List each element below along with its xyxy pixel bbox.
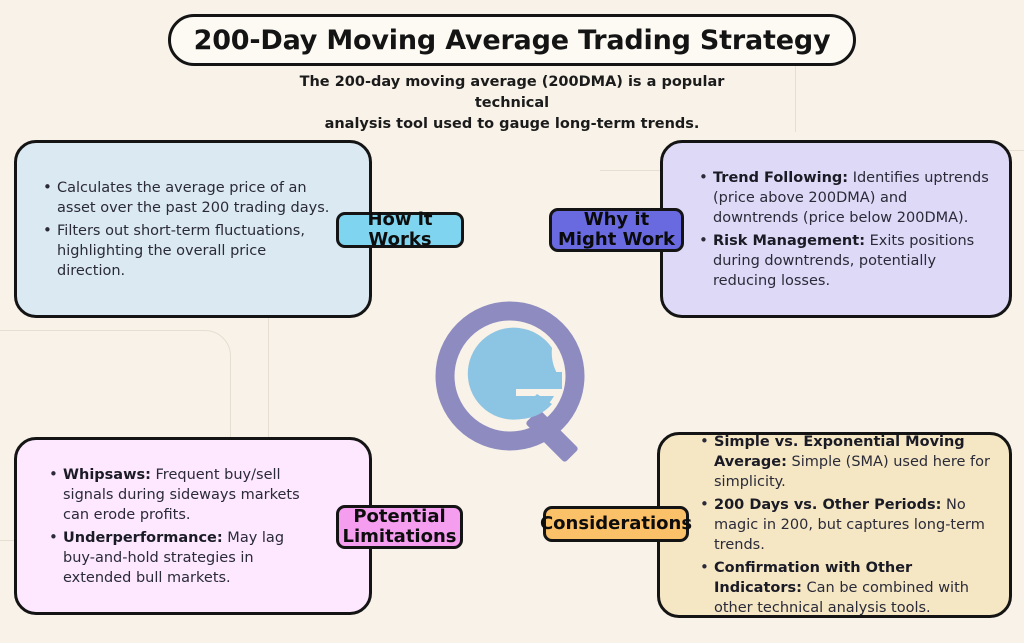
list-item-bold: Trend Following: (713, 170, 848, 186)
page-title-text: 200-Day Moving Average Trading Strategy (194, 25, 831, 56)
list-item: Risk Management: Exits positions during … (699, 231, 993, 291)
card-potential-limitations: Whipsaws: Frequent buy/sell signals duri… (14, 437, 372, 615)
subtitle-line-1: The 200-day moving average (200DMA) is a… (300, 74, 725, 111)
considerations-list: Simple vs. Exponential Moving Average: S… (660, 432, 1009, 618)
card-how-it-works: Calculates the average price of an asset… (14, 140, 372, 318)
potential-limitations-list: Whipsaws: Frequent buy/sell signals duri… (17, 465, 369, 588)
page-title: 200-Day Moving Average Trading Strategy (168, 14, 856, 66)
list-item: Whipsaws: Frequent buy/sell signals duri… (49, 465, 309, 525)
chip-considerations[interactable]: Considerations (543, 506, 689, 542)
bg-connector-line (795, 64, 796, 132)
bg-connector-line (268, 318, 269, 438)
bg-connector-line (600, 170, 662, 171)
list-item-text: Filters out short-term fluctuations, hig… (57, 223, 305, 279)
why-it-might-work-list: Trend Following: Identifies uptrends (pr… (663, 168, 1009, 291)
list-item: Filters out short-term fluctuations, hig… (43, 221, 333, 281)
chip-label: Considerations (540, 514, 692, 534)
chip-label: Potential Limitations (339, 507, 460, 547)
card-considerations: Simple vs. Exponential Moving Average: S… (657, 432, 1012, 618)
sq-logo-watermark (424, 296, 604, 472)
list-item: Simple vs. Exponential Moving Average: S… (700, 432, 995, 492)
chip-why-it-might-work[interactable]: Why it Might Work (549, 208, 684, 252)
list-item: Underperformance: May lag buy-and-hold s… (49, 528, 309, 588)
list-item-bold: Underperformance: (63, 530, 223, 546)
bg-connector-corner (178, 330, 231, 441)
list-item: Confirmation with Other Indicators: Can … (700, 558, 995, 618)
list-item: Calculates the average price of an asset… (43, 178, 333, 218)
bg-connector-line (0, 330, 178, 331)
list-item-bold: 200 Days vs. Other Periods: (714, 497, 941, 513)
list-item-bold: Whipsaws: (63, 467, 151, 483)
subtitle-line-2: analysis tool used to gauge long-term tr… (262, 114, 762, 135)
subtitle: The 200-day moving average (200DMA) is a… (262, 72, 762, 135)
list-item-bold: Risk Management: (713, 233, 865, 249)
chip-how-it-works[interactable]: How it Works (336, 212, 464, 248)
chip-potential-limitations[interactable]: Potential Limitations (336, 505, 463, 549)
infographic-canvas: 200-Day Moving Average Trading Strategy … (0, 0, 1024, 643)
list-item: 200 Days vs. Other Periods: No magic in … (700, 495, 995, 555)
card-why-it-might-work: Trend Following: Identifies uptrends (pr… (660, 140, 1012, 318)
how-it-works-list: Calculates the average price of an asset… (17, 178, 369, 281)
list-item: Trend Following: Identifies uptrends (pr… (699, 168, 993, 228)
list-item-text: Calculates the average price of an asset… (57, 180, 329, 216)
chip-label: Why it Might Work (552, 210, 681, 250)
chip-label: How it Works (339, 210, 461, 250)
